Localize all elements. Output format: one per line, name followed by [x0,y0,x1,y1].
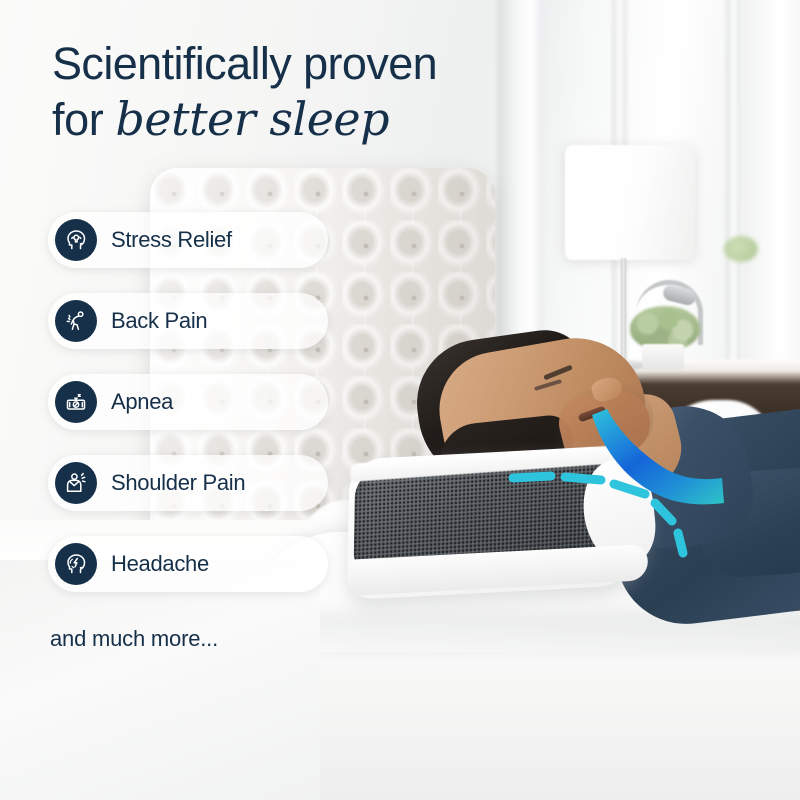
product-marketing-image: Scientifically proven for better sleep S… [0,0,800,800]
head-brain-icon [55,219,97,261]
benefit-item-back-pain[interactable]: Back Pain [48,293,328,349]
headline-emphasis: better sleep [115,92,389,146]
benefit-label: Apnea [111,389,173,415]
benefit-label: Stress Relief [111,227,232,253]
page-title: Scientifically proven for better sleep [52,40,532,144]
benefits-footer-text: and much more... [50,626,218,652]
pillow-no-snore-icon [55,381,97,423]
benefit-label: Back Pain [111,308,207,334]
benefit-label: Headache [111,551,209,577]
benefit-item-stress-relief[interactable]: Stress Relief [48,212,328,268]
person-back-pain-icon [55,300,97,342]
benefit-item-apnea[interactable]: Apnea [48,374,328,430]
benefit-label: Shoulder Pain [111,470,245,496]
headline-line-2: for better sleep [52,95,532,145]
headline-line-2-prefix: for [52,94,115,145]
head-lightning-icon [55,543,97,585]
headline-line-1: Scientifically proven [52,40,532,89]
benefits-list: Stress Relief Back Pain [48,212,328,617]
person-shoulder-pain-icon [55,462,97,504]
marketing-overlay: Scientifically proven for better sleep S… [0,0,800,800]
benefit-item-headache[interactable]: Headache [48,536,328,592]
benefit-item-shoulder-pain[interactable]: Shoulder Pain [48,455,328,511]
